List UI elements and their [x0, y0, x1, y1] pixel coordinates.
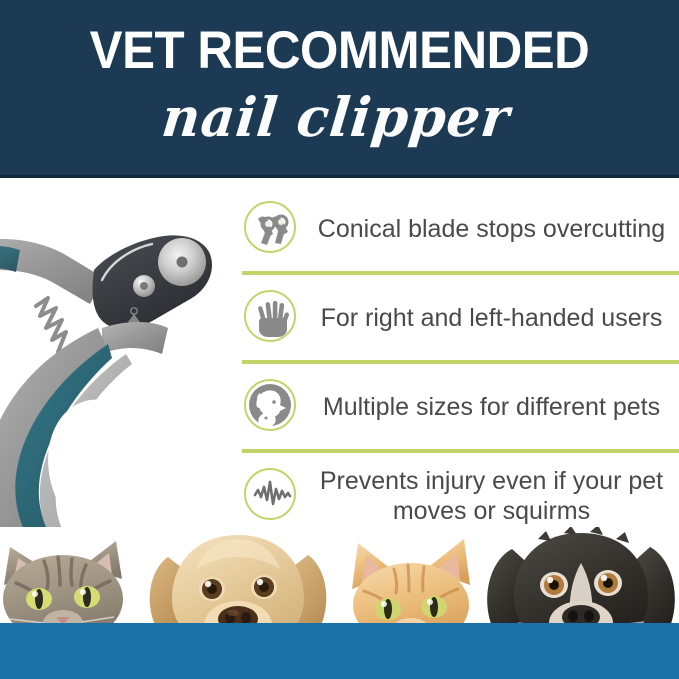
- feature-item-prevents-injury: Prevents injury even if your pet moves o…: [242, 453, 679, 538]
- blue-footer-band: [0, 623, 679, 679]
- feature-label: Prevents injury even if your pet moves o…: [314, 466, 679, 526]
- dog-and-cat-icon: [244, 379, 300, 435]
- clipper-blade-icon: [244, 201, 300, 257]
- clipper-blade-glyph: [244, 201, 300, 257]
- feature-label: Multiple sizes for different pets: [314, 392, 679, 422]
- waveform-glyph: [244, 468, 300, 524]
- nail-clipper-illustration: [0, 186, 242, 536]
- feature-label: For right and left-handed users: [314, 303, 679, 333]
- clipper-rivet-center: [140, 282, 148, 290]
- open-hand-glyph: [244, 290, 300, 346]
- feature-list: Conical blade stops overcutting: [242, 186, 679, 526]
- waveform-icon: [244, 468, 300, 524]
- feature-item-multiple-sizes: Multiple sizes for different pets: [242, 364, 679, 449]
- conical-blade-center: [177, 257, 188, 268]
- dog-and-cat-glyph: [244, 379, 300, 435]
- feature-label: Conical blade stops overcutting: [314, 214, 679, 244]
- header-banner: VET RECOMMENDED nail clipper: [0, 0, 679, 178]
- product-infographic: VET RECOMMENDED nail clipper: [0, 0, 679, 679]
- page-subtitle: nail clipper: [3, 84, 669, 150]
- open-hand-icon: [244, 290, 300, 346]
- feature-item-conical-blade: Conical blade stops overcutting: [242, 186, 679, 271]
- page-title: VET RECOMMENDED: [24, 22, 655, 80]
- clipper-spring: [36, 298, 66, 352]
- feature-item-handedness: For right and left-handed users: [242, 275, 679, 360]
- clipper-lower-arm: [102, 322, 168, 354]
- product-image: [0, 186, 242, 536]
- header-bottom-edge: [0, 175, 679, 178]
- pet-photo-strip: [0, 527, 679, 679]
